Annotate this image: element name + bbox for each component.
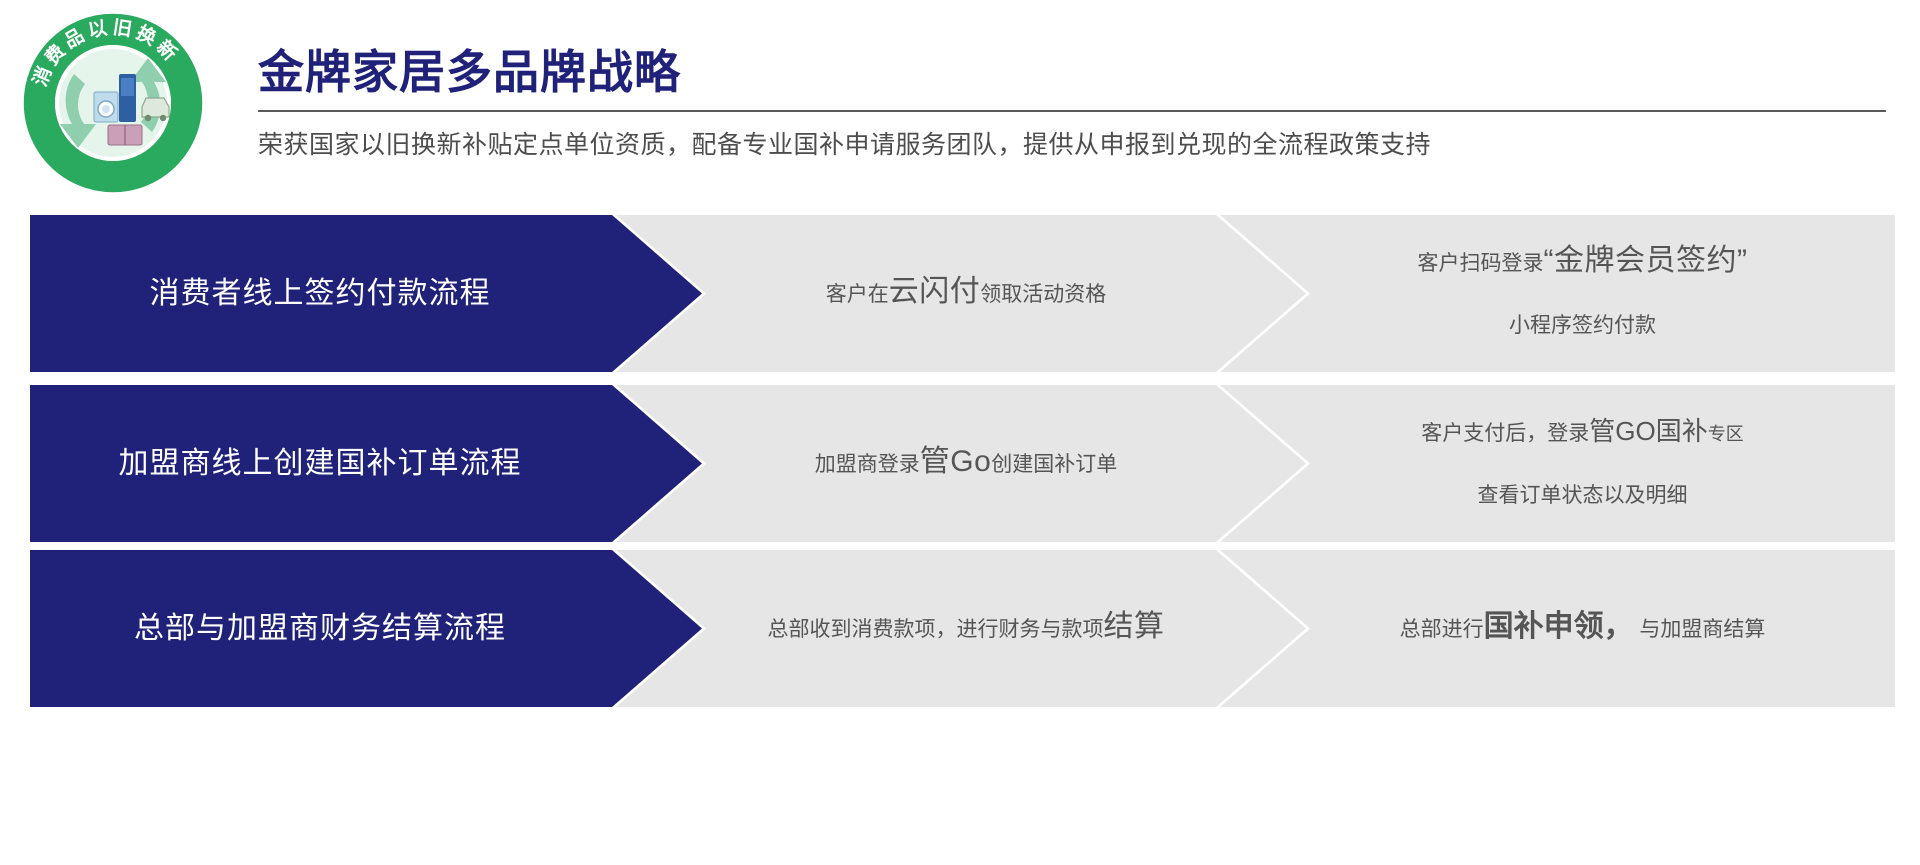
step-text-pre: 客户扫码登录: [1418, 252, 1544, 275]
flow-row: 总部与加盟商财务结算流程 总部收到消费款项，进行财务与款项结算 总部进行国补申领…: [30, 550, 1895, 707]
flow-step-text-line1: 客户扫码登录“金牌会员签约”: [1418, 240, 1748, 285]
step-text-emphasis: “金牌会员签约”: [1544, 244, 1748, 277]
flow-step-0-2[interactable]: 客户扫码登录“金牌会员签约” 小程序签约付款: [1220, 215, 1895, 372]
title-divider: [258, 110, 1886, 112]
flow-step-text: 客户在云闪付领取活动资格: [826, 271, 1107, 316]
step-text-post: 专区: [1708, 424, 1744, 444]
step-text-pre: 加盟商登录: [815, 453, 920, 476]
flow-step-2-1[interactable]: 总部收到消费款项，进行财务与款项结算: [616, 550, 1306, 707]
flow-step-text: 总部收到消费款项，进行财务与款项结算: [768, 606, 1165, 651]
step-text-post: 领取活动资格: [980, 283, 1106, 306]
flow-row-label-2[interactable]: 总部与加盟商财务结算流程: [30, 550, 702, 707]
step-text-pre: 总部进行: [1400, 618, 1484, 641]
flow-row-label-text: 加盟商线上创建国补订单流程: [119, 443, 522, 485]
step-text-pre: 客户在: [826, 283, 889, 306]
step-text-pre: 总部收到消费款项，进行财务与款项: [768, 618, 1104, 641]
step-text-emphasis: 结算: [1104, 610, 1165, 643]
flow-step-2-2[interactable]: 总部进行国补申领， 与加盟商结算: [1220, 550, 1895, 707]
flow-row-label-0[interactable]: 消费者线上签约付款流程: [30, 215, 702, 372]
page-header: 消费品以旧换新 汽车换“能” · 家电换“智” · 家装厨卫“换新” 金牌家居多…: [0, 0, 1920, 205]
slide-root: 消费品以旧换新 汽车换“能” · 家电换“智” · 家装厨卫“换新” 金牌家居多…: [0, 0, 1920, 865]
flow-step-text-line2: 小程序签约付款: [1509, 305, 1656, 347]
step-text-post: 创建国补订单: [991, 453, 1117, 476]
flow-step-text-line1: 客户支付后，登录管GO国补专区: [1421, 410, 1743, 455]
flow-row-label-text: 消费者线上签约付款流程: [150, 273, 491, 315]
consumer-goods-trade-in-badge-icon: 消费品以旧换新 汽车换“能” · 家电换“智” · 家装厨卫“换新”: [22, 12, 204, 194]
step-text-emphasis: 管Go: [920, 445, 992, 478]
page-title: 金牌家居多品牌战略: [258, 44, 1898, 100]
flow-step-1-1[interactable]: 加盟商登录管Go创建国补订单: [616, 385, 1306, 542]
flow-step-0-1[interactable]: 客户在云闪付领取活动资格: [616, 215, 1306, 372]
step-text-emphasis: 云闪付: [889, 275, 981, 308]
flow-row-label-1[interactable]: 加盟商线上创建国补订单流程: [30, 385, 702, 542]
step-text-pre: 客户支付后，登录: [1421, 422, 1589, 445]
header-text-block: 金牌家居多品牌战略 荣获国家以旧换新补贴定点单位资质，配备专业国补申请服务团队，…: [258, 44, 1898, 162]
flow-step-text-line1: 总部进行国补申领， 与加盟商结算: [1400, 606, 1766, 651]
page-subtitle: 荣获国家以旧换新补贴定点单位资质，配备专业国补申请服务团队，提供从申报到兑现的全…: [258, 128, 1898, 162]
step-text-post: 与加盟商结算: [1634, 618, 1766, 641]
flow-row: 消费者线上签约付款流程 客户在云闪付领取活动资格 客户扫码登录“金牌会员签约” …: [30, 215, 1895, 372]
flow-row: 加盟商线上创建国补订单流程 加盟商登录管Go创建国补订单 客户支付后，登录管GO…: [30, 385, 1895, 542]
step-text-emphasis: 管GO国补: [1589, 416, 1707, 446]
flow-row-label-text: 总部与加盟商财务结算流程: [134, 608, 506, 650]
flow-step-text: 加盟商登录管Go创建国补订单: [815, 441, 1118, 486]
process-flow-diagram: 消费者线上签约付款流程 客户在云闪付领取活动资格 客户扫码登录“金牌会员签约” …: [0, 205, 1920, 865]
flow-step-text-line2: 查看订单状态以及明细: [1478, 475, 1688, 517]
flow-step-1-2[interactable]: 客户支付后，登录管GO国补专区 查看订单状态以及明细: [1220, 385, 1895, 542]
step-text-emphasis: 国补申领，: [1484, 610, 1634, 643]
